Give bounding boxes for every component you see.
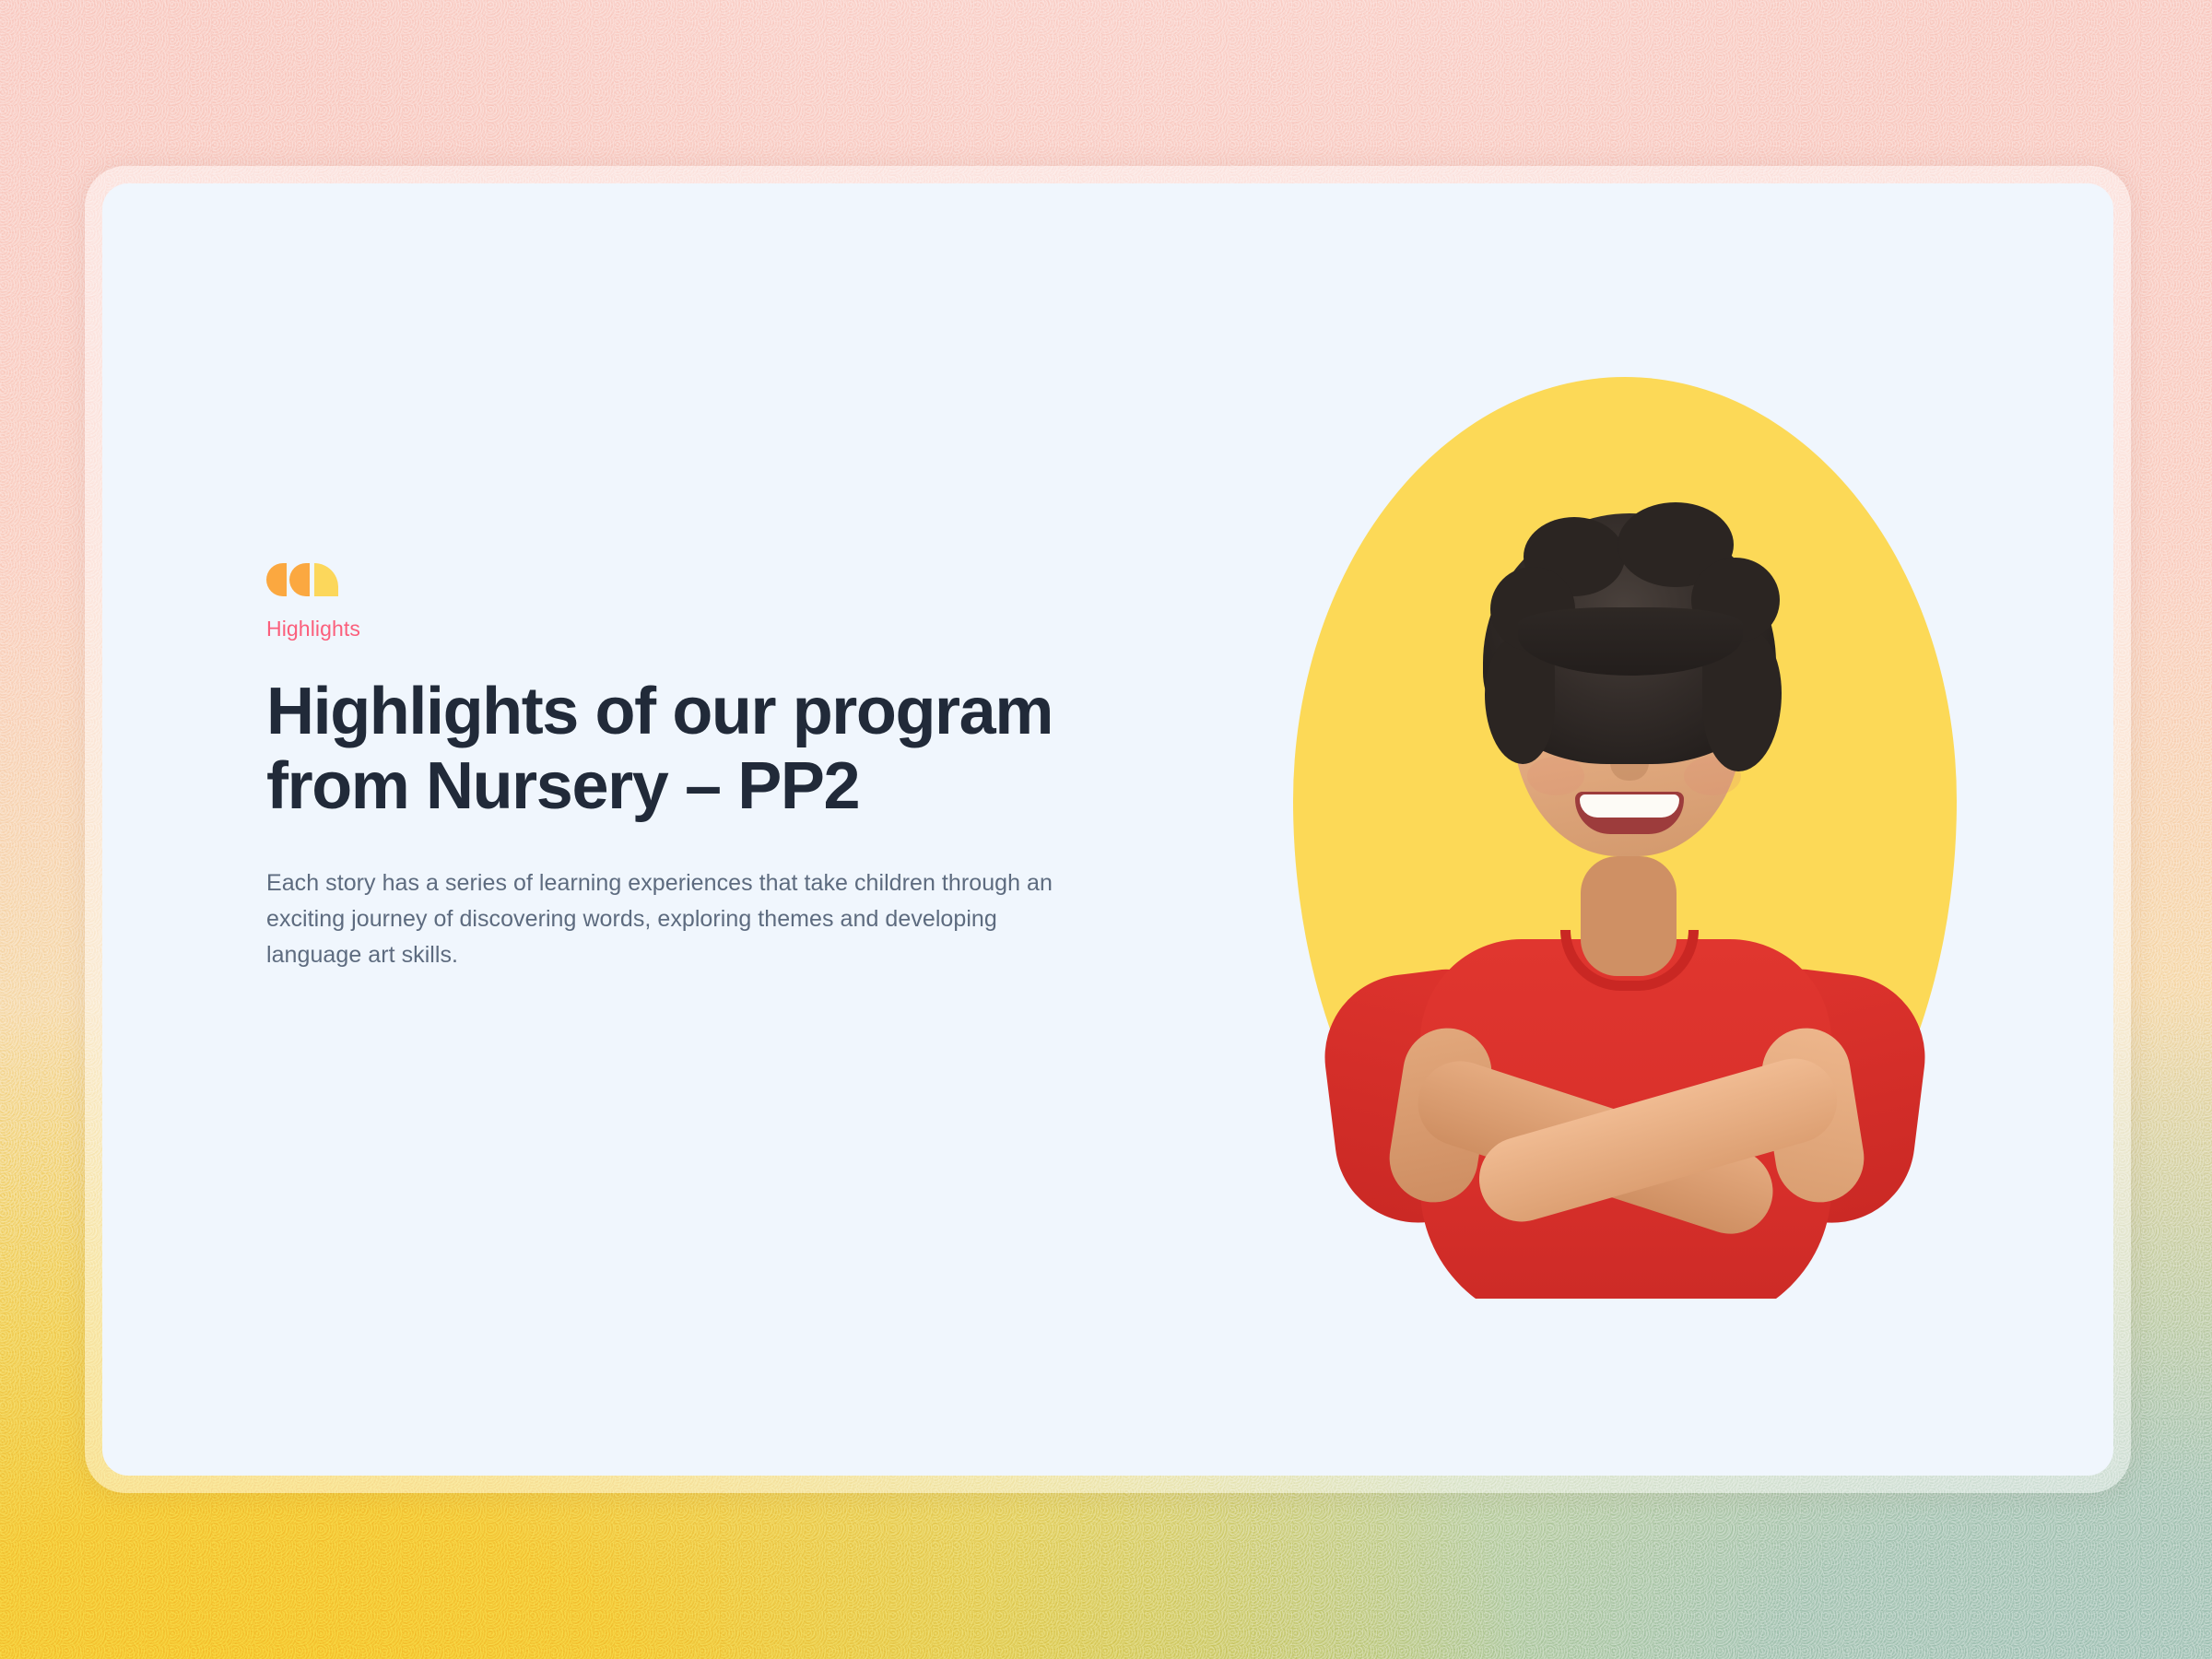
logo-petal-right-icon [289, 563, 310, 596]
mouth [1575, 792, 1684, 834]
logo-petal-left-icon [266, 563, 287, 596]
portrait-photo [1293, 377, 1957, 1299]
section-eyebrow-label: Highlights [266, 617, 1151, 641]
section-description: Each story has a series of learning expe… [266, 865, 1077, 972]
slide-text-column: Highlights Highlights of our program fro… [266, 563, 1151, 973]
portrait-figure [1293, 377, 1957, 1299]
logo-quarter-round-icon [314, 563, 338, 596]
slide-surface: Highlights Highlights of our program fro… [102, 183, 2113, 1476]
page-title: Highlights of our program from Nursery –… [266, 675, 1133, 823]
cheek-left [1527, 757, 1584, 795]
slide-card: Highlights Highlights of our program fro… [85, 166, 2131, 1493]
neck [1581, 856, 1677, 976]
teeth [1580, 794, 1679, 818]
highlights-logo [266, 563, 338, 596]
